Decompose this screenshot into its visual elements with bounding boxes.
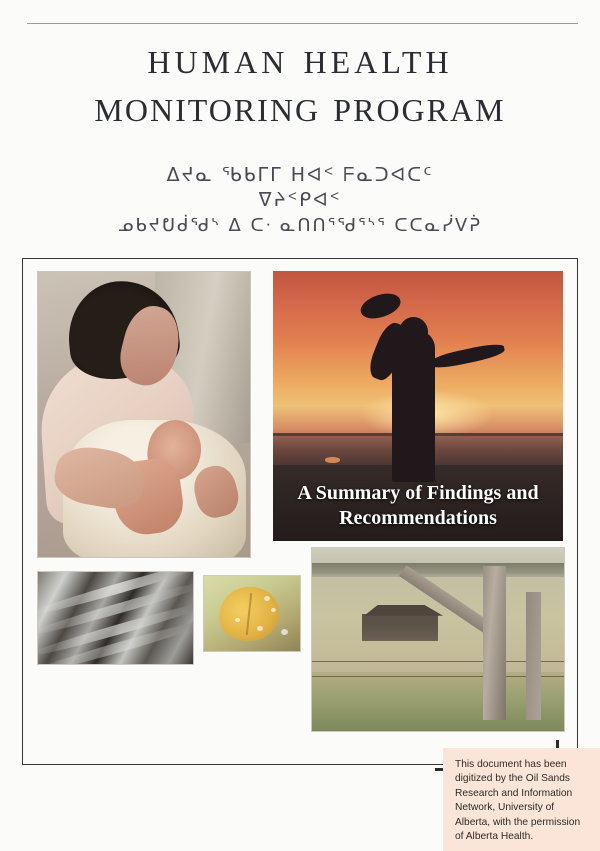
syllabics-line-3: ᓄᑲᔪᕞᑰᖁᔅ ᐃ ᑕᐧ ᓇᑎᑎᕐᖁᕐᔅᕐ ᑕᑕᓇᓰᐯᕉ	[0, 213, 600, 238]
photo-prairie-cabin	[311, 547, 565, 732]
digitization-notice-text: This document has been digitized by the …	[455, 758, 590, 844]
photo-child-at-sunset: A Summary of Findings and Recommendation…	[273, 271, 563, 541]
cover-photo-frame: A Summary of Findings and Recommendation…	[22, 258, 578, 765]
page-title-line-1: Human Health	[0, 36, 600, 81]
cover-title-block: Human Health Monitoring Program	[0, 36, 600, 129]
subtitle-overlay: A Summary of Findings and Recommendation…	[273, 481, 563, 531]
photo-yellow-leaf	[203, 575, 301, 652]
syllabics-line-1: ᐃᔪᓇ ᖃᑲᒥᒥ ᕼᐊᑉ ᖴᓇᑐᐊᑕᑦ	[0, 163, 600, 188]
top-divider-rule	[27, 23, 578, 24]
syllabics-line-2: ᐁᔨᑉᑭᐊᑉ	[0, 188, 600, 213]
digitization-notice: This document has been digitized by the …	[443, 748, 600, 851]
page-title-line-2: Monitoring Program	[0, 84, 600, 129]
photo-flowing-water	[37, 571, 194, 665]
syllabics-title-block: ᐃᔪᓇ ᖃᑲᒥᒥ ᕼᐊᑉ ᖴᓇᑐᐊᑕᑦ ᐁᔨᑉᑭᐊᑉ ᓄᑲᔪᕞᑰᖁᔅ ᐃ ᑕᐧ …	[0, 163, 600, 238]
photo-mother-and-baby	[37, 271, 251, 558]
document-cover-page: Human Health Monitoring Program ᐃᔪᓇ ᖃᑲᒥᒥ…	[0, 0, 600, 851]
